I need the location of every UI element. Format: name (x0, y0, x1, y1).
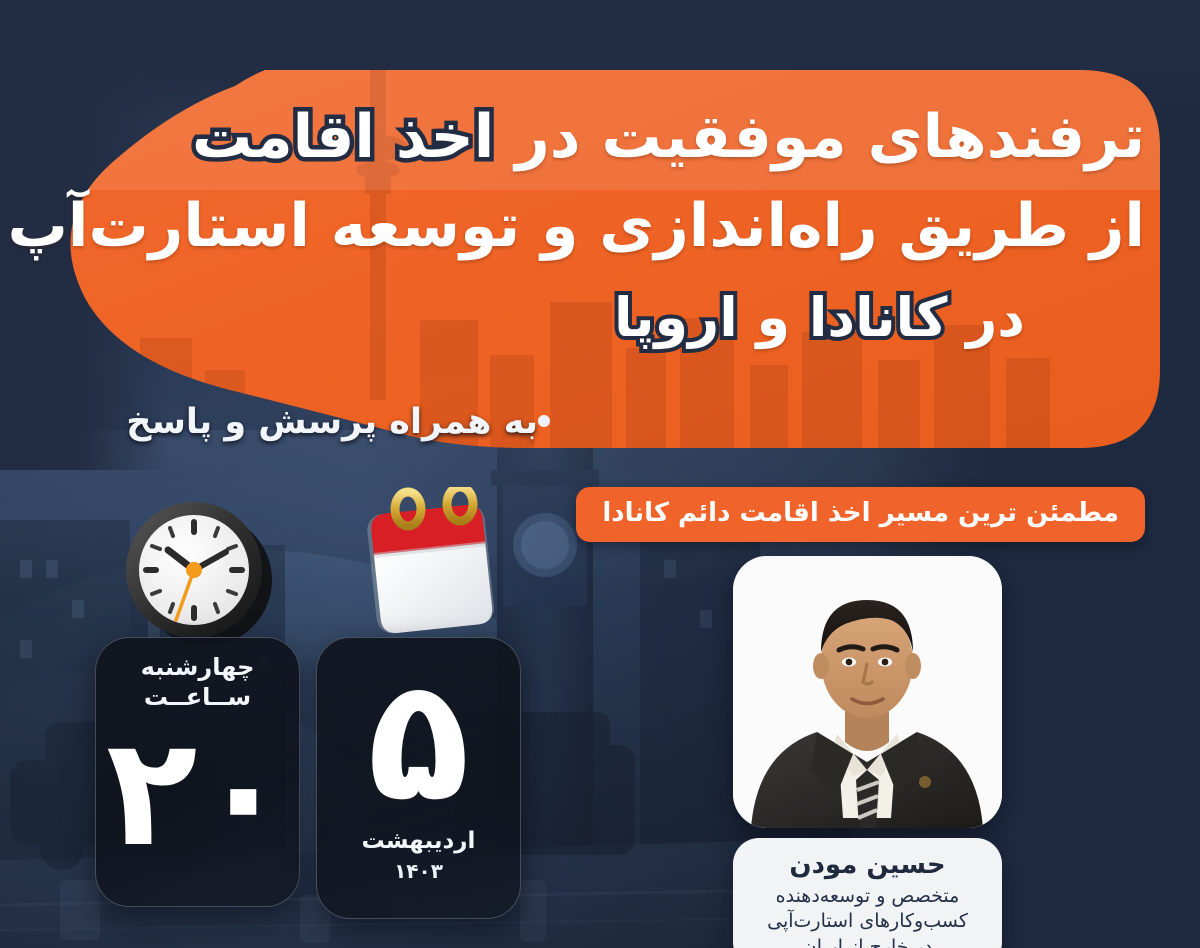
headline-line-1: ترفندهای موفقیت در اخذ اقامت (70, 104, 1145, 171)
headline-line-2: از طریق راه‌اندازی و توسعه استارت‌آپ (70, 193, 1145, 260)
date-card: ۵ اردیبهشت ۱۴۰۳ (316, 637, 521, 919)
speaker-info-card: حسین مودن متخصص و توسعه‌دهنده کسب‌وکارها… (733, 838, 1002, 948)
headline-line-3-conj: و (757, 286, 791, 349)
date-card-month: اردیبهشت (317, 828, 520, 855)
qa-note: به همراه پرسش و پاسخ (126, 402, 560, 442)
time-card-value: ۲۰ (96, 718, 299, 868)
headline-line-3: در کانادا و اروپا (70, 288, 1145, 348)
headline-highlight-residency: اخذ اقامت (192, 104, 494, 171)
speaker-photo-card (733, 556, 1002, 828)
time-card-weekday: چهارشنبه (96, 654, 299, 682)
headline-line-3-prefix: در (966, 286, 1025, 349)
calendar-icon (360, 487, 505, 652)
speaker-role-line-2: کسب‌وکارهای استارت‌آپی (743, 909, 992, 934)
date-card-year: ۱۴۰۳ (317, 859, 520, 883)
webinar-poster: ترفندهای موفقیت در اخذ اقامت از طریق راه… (0, 0, 1200, 948)
headline: ترفندهای موفقیت در اخذ اقامت از طریق راه… (70, 104, 1170, 349)
qa-note-text: به همراه پرسش و پاسخ (126, 402, 538, 442)
status-badge: مطمئن ترین مسیر اخذ اقامت دائم کانادا (576, 487, 1145, 542)
clock-icon (118, 492, 278, 652)
speaker-role-line-1: متخصص و توسعه‌دهنده (743, 884, 992, 909)
headline-place-europe: اروپا (614, 288, 738, 348)
bullet-dot-icon (538, 415, 550, 427)
speaker-role-line-3: در خارج از ایران (743, 935, 992, 948)
date-card-day: ۵ (317, 656, 520, 824)
speaker-name: حسین مودن (743, 850, 992, 880)
headline-line-1-text: ترفندهای موفقیت در (515, 102, 1145, 172)
time-card: چهارشنبه ســاعــت ۲۰ (95, 637, 300, 907)
speaker-portrait (733, 556, 1002, 828)
headline-place-canada: کانادا (809, 288, 947, 348)
